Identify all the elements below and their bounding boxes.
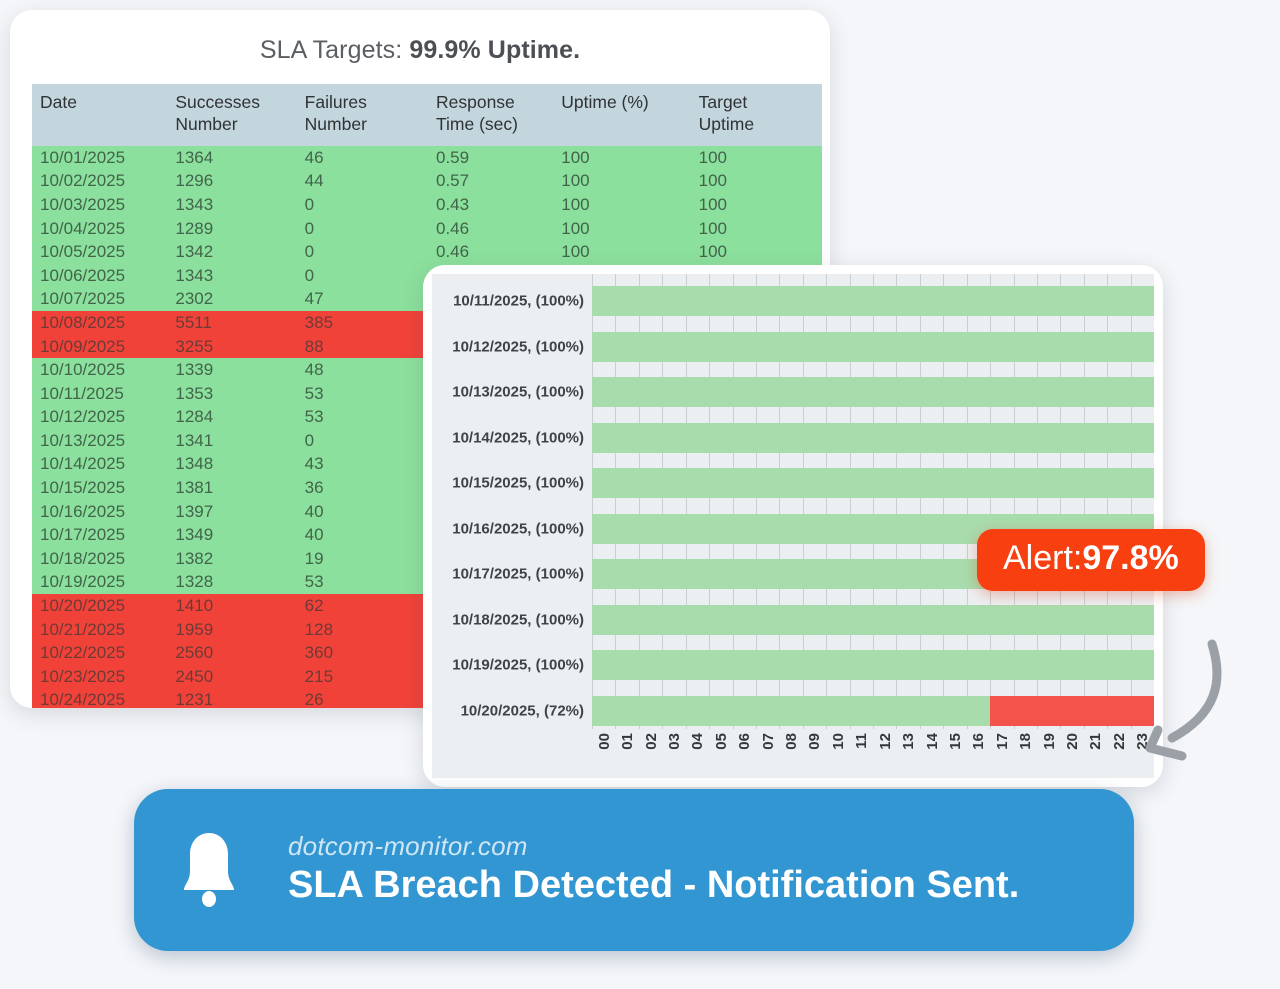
- cell-date: 10/13/2025: [32, 429, 167, 453]
- cell-failures: 0: [297, 429, 428, 453]
- cell-failures: 46: [297, 146, 428, 170]
- cell-failures: 62: [297, 594, 428, 618]
- cell-successes: 1289: [167, 217, 296, 241]
- cell-target: 100: [691, 193, 822, 217]
- chart-category-axis: 10/11/2025, (100%)10/12/2025, (100%)10/1…: [432, 274, 592, 729]
- chart-category-label: 10/17/2025, (100%): [452, 566, 584, 583]
- cell-target: 100: [691, 169, 822, 193]
- cell-response: 0.59: [428, 146, 553, 170]
- cell-successes: 1397: [167, 500, 296, 524]
- cell-date: 10/06/2025: [32, 264, 167, 288]
- cell-failures: 48: [297, 358, 428, 382]
- sla-col-header-5: TargetUptime: [691, 84, 822, 146]
- chart-bar-segment-uptime[interactable]: [592, 332, 1154, 362]
- chart-x-tick: 15: [947, 733, 964, 750]
- table-row: 10/05/2025134200.46100100: [32, 240, 822, 264]
- cell-date: 10/22/2025: [32, 641, 167, 665]
- cell-successes: 1959: [167, 618, 296, 642]
- cell-date: 10/03/2025: [32, 193, 167, 217]
- sla-col-header-1: SuccessesNumber: [167, 84, 296, 146]
- chart-category-label: 10/14/2025, (100%): [452, 429, 584, 446]
- chart-x-tick: 00: [596, 733, 613, 750]
- cell-date: 10/15/2025: [32, 476, 167, 500]
- cell-successes: 1296: [167, 169, 296, 193]
- alert-badge-value: 97.8%: [1082, 539, 1178, 577]
- sla-col-header-4: Uptime (%): [553, 84, 690, 146]
- cell-failures: 40: [297, 523, 428, 547]
- cell-successes: 1381: [167, 476, 296, 500]
- cell-failures: 44: [297, 169, 428, 193]
- cell-target: 100: [691, 217, 822, 241]
- chart-plot-area: 10/11/2025, (100%)10/12/2025, (100%)10/1…: [432, 274, 1154, 778]
- chart-bar-segment-uptime[interactable]: [592, 286, 1154, 316]
- cell-successes: 1284: [167, 405, 296, 429]
- cell-uptime: 100: [553, 169, 690, 193]
- chart-bar-segment-uptime[interactable]: [592, 605, 1154, 635]
- cell-successes: 1353: [167, 382, 296, 406]
- cell-response: 0.57: [428, 169, 553, 193]
- sla-col-header-2: FailuresNumber: [297, 84, 428, 146]
- cell-failures: 128: [297, 618, 428, 642]
- cell-successes: 1343: [167, 264, 296, 288]
- chart-x-tick: 12: [877, 733, 894, 750]
- cell-failures: 0: [297, 193, 428, 217]
- sla-col-header-3: ResponseTime (sec): [428, 84, 553, 146]
- chart-bar-row[interactable]: [592, 423, 1154, 453]
- cell-failures: 0: [297, 264, 428, 288]
- cell-uptime: 100: [553, 217, 690, 241]
- cell-date: 10/21/2025: [32, 618, 167, 642]
- cell-date: 10/23/2025: [32, 665, 167, 689]
- chart-category-label: 10/11/2025, (100%): [453, 293, 584, 310]
- table-row: 10/03/2025134300.43100100: [32, 193, 822, 217]
- sla-header-row: Date SuccessesNumberFailuresNumberRespon…: [32, 84, 822, 146]
- cell-successes: 1342: [167, 240, 296, 264]
- cell-date: 10/01/2025: [32, 146, 167, 170]
- cell-response: 0.46: [428, 217, 553, 241]
- notification-domain: dotcom-monitor.com: [288, 831, 1019, 862]
- cell-target: 100: [691, 240, 822, 264]
- chart-bar-row[interactable]: [592, 605, 1154, 635]
- cell-uptime: 100: [553, 146, 690, 170]
- chart-x-tick: 18: [1017, 733, 1034, 750]
- chart-bar-row[interactable]: [592, 286, 1154, 316]
- sla-col-header-0: Date: [32, 84, 167, 146]
- cell-date: 10/20/2025: [32, 594, 167, 618]
- cell-failures: 19: [297, 547, 428, 571]
- chart-bar-segment-uptime[interactable]: [592, 423, 1154, 453]
- chart-bar-segment-uptime[interactable]: [592, 696, 990, 726]
- chart-x-tick: 05: [713, 733, 730, 750]
- cell-date: 10/24/2025: [32, 688, 167, 708]
- chart-x-tick: 04: [689, 733, 706, 750]
- cell-failures: 36: [297, 476, 428, 500]
- cell-successes: 1341: [167, 429, 296, 453]
- cell-date: 10/09/2025: [32, 335, 167, 359]
- chart-x-tick: 08: [783, 733, 800, 750]
- table-row: 10/01/20251364460.59100100: [32, 146, 822, 170]
- chart-x-tick: 16: [970, 733, 987, 750]
- cell-successes: 1410: [167, 594, 296, 618]
- chart-bar-segment-uptime[interactable]: [592, 650, 1154, 680]
- cell-failures: 26: [297, 688, 428, 708]
- sla-card-title: SLA Targets: 99.9% Uptime.: [10, 10, 830, 65]
- cell-failures: 88: [297, 335, 428, 359]
- cell-failures: 40: [297, 500, 428, 524]
- cell-successes: 1328: [167, 570, 296, 594]
- chart-category-label: 10/15/2025, (100%): [452, 475, 584, 492]
- cell-date: 10/18/2025: [32, 547, 167, 571]
- chart-x-tick: 06: [736, 733, 753, 750]
- cell-failures: 53: [297, 405, 428, 429]
- chart-bar-row[interactable]: [592, 332, 1154, 362]
- chart-bar-row[interactable]: [592, 696, 1154, 726]
- cell-date: 10/02/2025: [32, 169, 167, 193]
- cell-date: 10/04/2025: [32, 217, 167, 241]
- cell-successes: 1231: [167, 688, 296, 708]
- chart-x-tick: 13: [900, 733, 917, 750]
- cell-date: 10/14/2025: [32, 452, 167, 476]
- cell-failures: 215: [297, 665, 428, 689]
- cell-date: 10/05/2025: [32, 240, 167, 264]
- cell-successes: 1382: [167, 547, 296, 571]
- chart-bar-segment-uptime[interactable]: [592, 468, 1154, 498]
- sla-title-prefix: SLA Targets:: [260, 36, 410, 64]
- cell-successes: 2302: [167, 287, 296, 311]
- chart-category-label: 10/13/2025, (100%): [452, 384, 584, 401]
- cell-response: 0.43: [428, 193, 553, 217]
- screenshot-root: SLA Targets: 99.9% Uptime. Date Successe…: [0, 0, 1280, 989]
- cell-successes: 1348: [167, 452, 296, 476]
- cell-date: 10/19/2025: [32, 570, 167, 594]
- chart-bar-row[interactable]: [592, 377, 1154, 407]
- cell-successes: 1339: [167, 358, 296, 382]
- cell-target: 100: [691, 146, 822, 170]
- sla-table-head: Date SuccessesNumberFailuresNumberRespon…: [32, 84, 822, 146]
- cell-date: 10/10/2025: [32, 358, 167, 382]
- cell-failures: 43: [297, 452, 428, 476]
- cell-successes: 1343: [167, 193, 296, 217]
- cell-uptime: 100: [553, 193, 690, 217]
- cell-failures: 360: [297, 641, 428, 665]
- chart-x-tick: 20: [1064, 733, 1081, 750]
- chart-bar-segment-uptime[interactable]: [592, 377, 1154, 407]
- cell-successes: 1349: [167, 523, 296, 547]
- cell-date: 10/16/2025: [32, 500, 167, 524]
- chart-category-label: 10/19/2025, (100%): [452, 657, 584, 674]
- chart-bar-row[interactable]: [592, 650, 1154, 680]
- alert-badge-prefix: Alert:: [1003, 539, 1082, 577]
- pointer-arrow-icon: [1120, 630, 1240, 770]
- cell-successes: 3255: [167, 335, 296, 359]
- cell-successes: 5511: [167, 311, 296, 335]
- sla-title-value: 99.9% Uptime.: [409, 36, 580, 64]
- cell-successes: 1364: [167, 146, 296, 170]
- chart-x-tick: 10: [830, 733, 847, 750]
- notification-headline: SLA Breach Detected - Notification Sent.: [288, 862, 1019, 910]
- chart-x-tick: 07: [760, 733, 777, 750]
- cell-date: 10/08/2025: [32, 311, 167, 335]
- cell-response: 0.46: [428, 240, 553, 264]
- cell-date: 10/12/2025: [32, 405, 167, 429]
- cell-uptime: 100: [553, 240, 690, 264]
- chart-x-tick: 02: [643, 733, 660, 750]
- bell-icon: [134, 827, 284, 913]
- chart-bar-row[interactable]: [592, 468, 1154, 498]
- chart-category-label: 10/12/2025, (100%): [452, 338, 584, 355]
- cell-failures: 0: [297, 217, 428, 241]
- cell-date: 10/11/2025: [32, 382, 167, 406]
- cell-failures: 47: [297, 287, 428, 311]
- uptime-chart-card: 10/11/2025, (100%)10/12/2025, (100%)10/1…: [423, 265, 1163, 787]
- cell-failures: 53: [297, 570, 428, 594]
- chart-category-label: 10/18/2025, (100%): [452, 611, 584, 628]
- cell-successes: 2450: [167, 665, 296, 689]
- alert-badge[interactable]: Alert:97.8%: [977, 529, 1205, 591]
- chart-x-tick: 17: [994, 733, 1011, 750]
- cell-successes: 2560: [167, 641, 296, 665]
- notification-text-group: dotcom-monitor.com SLA Breach Detected -…: [284, 831, 1019, 910]
- chart-x-tick: 09: [806, 733, 823, 750]
- table-row: 10/02/20251296440.57100100: [32, 169, 822, 193]
- chart-x-tick: 11: [853, 733, 870, 749]
- cell-date: 10/07/2025: [32, 287, 167, 311]
- chart-x-tick: 19: [1041, 733, 1058, 750]
- cell-failures: 0: [297, 240, 428, 264]
- cell-failures: 53: [297, 382, 428, 406]
- chart-bars-region: [592, 274, 1154, 729]
- notification-banner[interactable]: dotcom-monitor.com SLA Breach Detected -…: [134, 789, 1134, 951]
- chart-hour-axis: 0001020304050607080910111213141516171819…: [592, 729, 1154, 778]
- chart-x-tick: 01: [619, 733, 636, 750]
- cell-date: 10/17/2025: [32, 523, 167, 547]
- table-row: 10/04/2025128900.46100100: [32, 217, 822, 241]
- chart-category-label: 10/16/2025, (100%): [452, 520, 584, 537]
- chart-x-tick: 21: [1087, 733, 1104, 750]
- cell-failures: 385: [297, 311, 428, 335]
- chart-x-tick: 14: [924, 733, 941, 750]
- chart-category-label: 10/20/2025, (72%): [461, 702, 584, 719]
- chart-x-tick: 03: [666, 733, 683, 750]
